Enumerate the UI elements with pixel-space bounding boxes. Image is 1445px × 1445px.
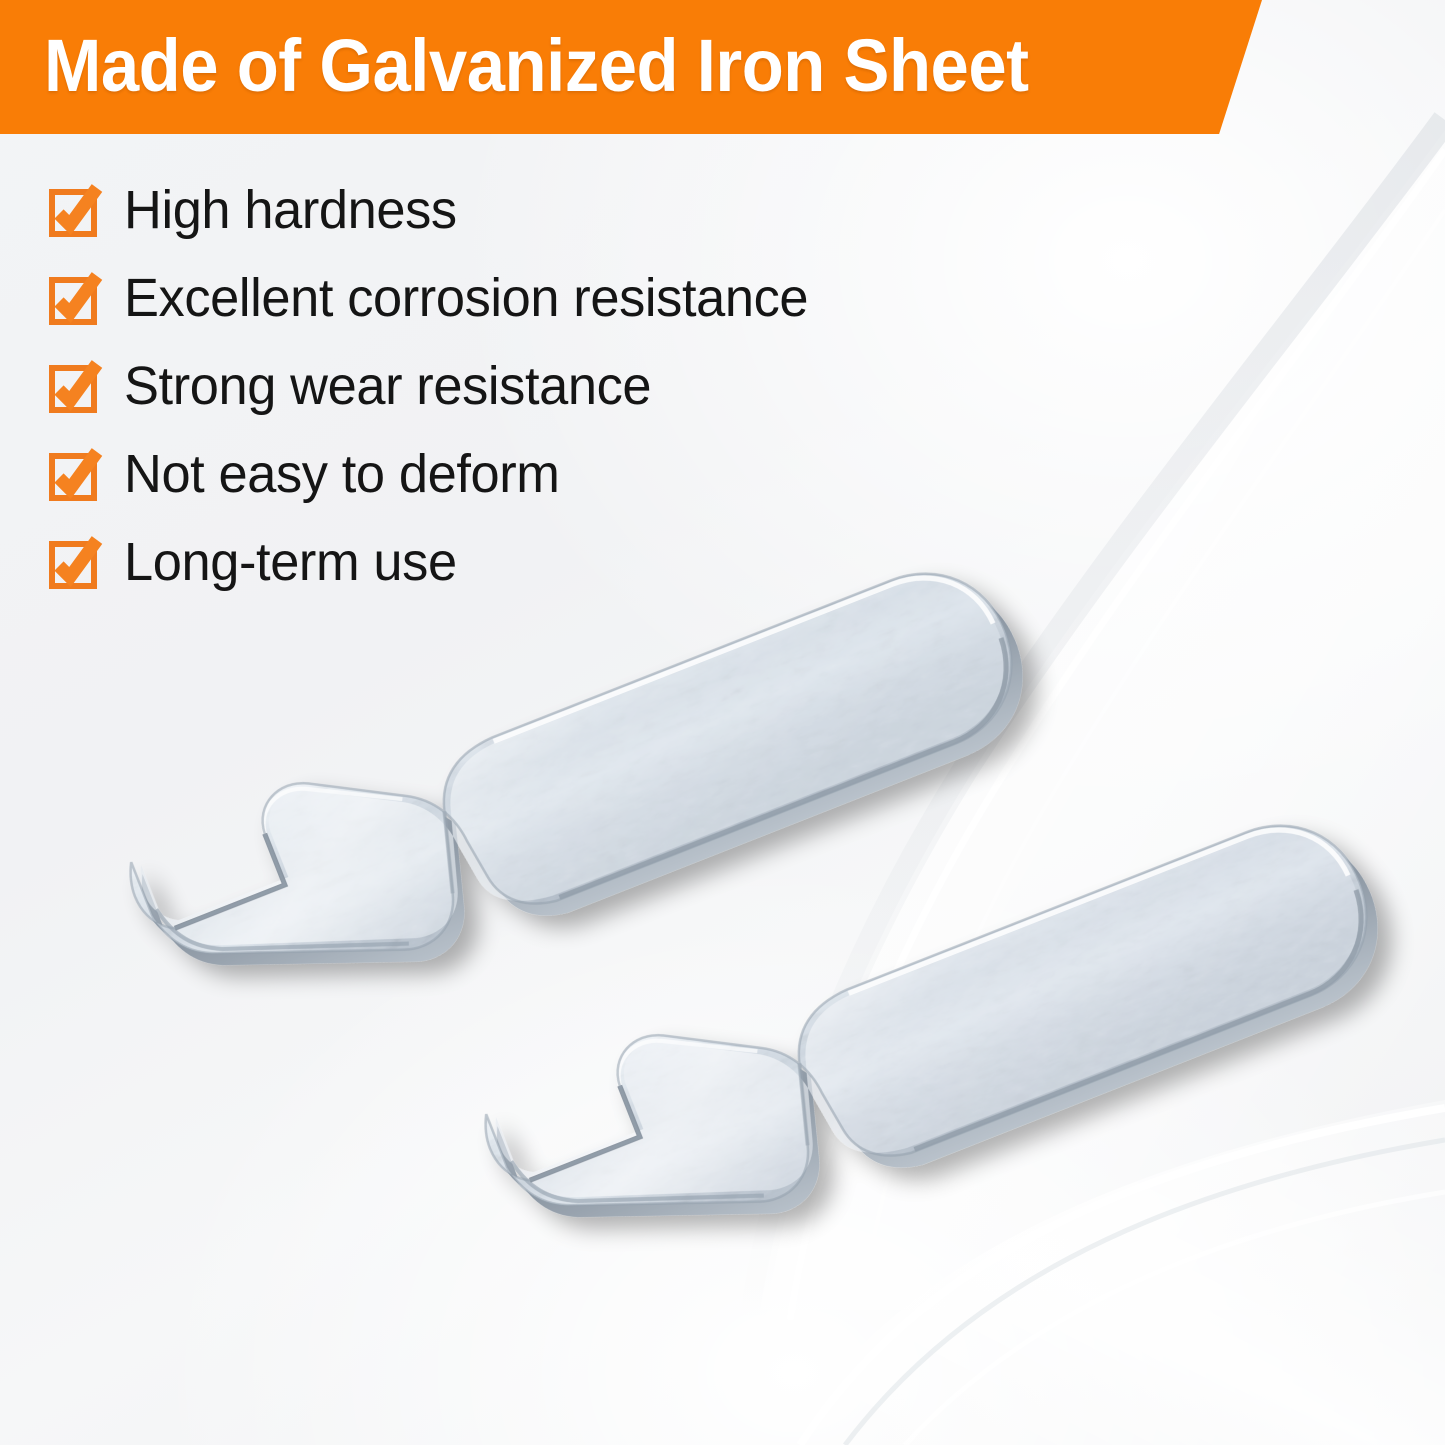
feature-label: Strong wear resistance xyxy=(124,356,651,416)
feature-list: High hardness Excellent corrosion resist… xyxy=(48,166,1248,606)
feature-item-high-hardness: High hardness xyxy=(48,166,1248,254)
feature-item-wear-resistance: Strong wear resistance xyxy=(48,342,1248,430)
feature-item-long-term-use: Long-term use xyxy=(48,518,1248,606)
checkbox-checked-icon xyxy=(48,360,100,412)
feature-label: Excellent corrosion resistance xyxy=(124,268,808,328)
checkbox-checked-icon xyxy=(48,272,100,324)
checkbox-checked-icon xyxy=(48,448,100,500)
feature-label: Not easy to deform xyxy=(124,444,560,504)
feature-label: Long-term use xyxy=(124,532,457,592)
feature-item-corrosion-resistance: Excellent corrosion resistance xyxy=(48,254,1248,342)
header-banner: Made of Galvanized Iron Sheet xyxy=(0,0,1262,134)
feature-item-not-easy-to-deform: Not easy to deform xyxy=(48,430,1248,518)
page-title: Made of Galvanized Iron Sheet xyxy=(44,16,1029,116)
checkbox-checked-icon xyxy=(48,184,100,236)
product-feature-image: Made of Galvanized Iron Sheet High hardn… xyxy=(0,0,1445,1445)
feature-label: High hardness xyxy=(124,180,457,240)
checkbox-checked-icon xyxy=(48,536,100,588)
